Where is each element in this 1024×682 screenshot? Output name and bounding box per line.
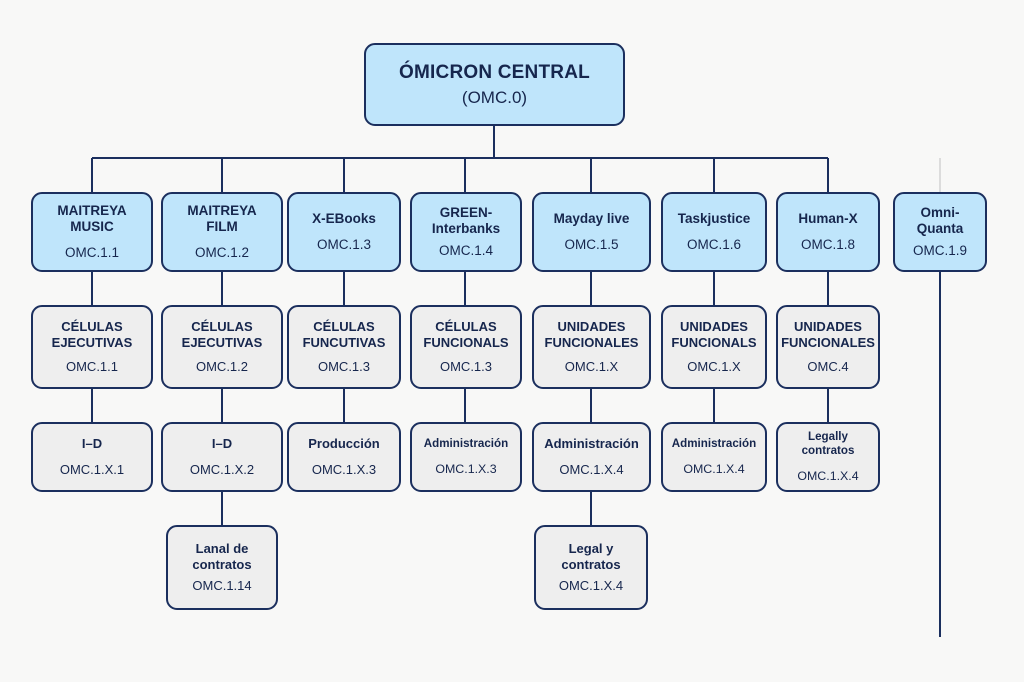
node-title-line1: UNIDADES	[794, 319, 862, 335]
node-code: OMC.1.6	[687, 237, 741, 253]
node-title-line2: FUNCIONALES	[545, 335, 639, 351]
node-function-administracion-1[interactable]: Administración OMC.1.X.3	[410, 422, 522, 492]
node-title: I–D	[212, 436, 232, 452]
node-unit-unidades-funcionales-2[interactable]: UNIDADES FUNCIONALES OMC.4	[776, 305, 880, 389]
node-code: OMC.1.X.3	[312, 462, 376, 478]
node-code: OMC.1.9	[913, 243, 967, 259]
node-function-administracion-3[interactable]: Administración OMC.1.X.4	[661, 422, 767, 492]
node-code: OMC.1.5	[564, 237, 618, 253]
node-function-produccion[interactable]: Producción OMC.1.X.3	[287, 422, 401, 492]
node-root-omicron-central[interactable]: ÓMICRON CENTRAL (OMC.0)	[364, 43, 625, 126]
node-title-line1: GREEN-	[440, 205, 493, 221]
node-title-line2: EJECUTIVAS	[182, 335, 263, 351]
node-code: OMC.1.X.4	[683, 462, 744, 477]
node-title-line2: FUNCIONALES	[781, 335, 875, 351]
node-title: Administración	[544, 436, 639, 452]
node-code: OMC.1.3	[318, 359, 370, 375]
node-title: Administración	[424, 437, 508, 451]
node-title-line2: FILM	[206, 219, 238, 235]
node-division-human-x[interactable]: Human-X OMC.1.8	[776, 192, 880, 272]
node-title-line1: X-EBooks	[312, 211, 376, 227]
node-code: OMC.1.3	[317, 237, 371, 253]
node-title-line1: CÉLULAS	[313, 319, 374, 335]
node-title-line2: Quanta	[917, 221, 964, 237]
node-title-line2: FUNCIONALS	[423, 335, 508, 351]
node-code: OMC.1.1	[66, 359, 118, 375]
node-title-line1: CÉLULAS	[61, 319, 122, 335]
node-title: I–D	[82, 436, 102, 452]
node-title-line1: Omni-	[921, 205, 960, 221]
node-division-maitreya-music[interactable]: MAITREYA MUSIC OMC.1.1	[31, 192, 153, 272]
node-code: OMC.1.X	[687, 359, 740, 375]
node-unit-celulas-funcutivas[interactable]: CÉLULAS FUNCUTIVAS OMC.1.3	[287, 305, 401, 389]
node-subfunction-legal-y-contratos[interactable]: Legal y contratos OMC.1.X.4	[534, 525, 648, 610]
node-division-x-ebooks[interactable]: X-EBooks OMC.1.3	[287, 192, 401, 272]
node-title-line1: Lanal de	[196, 541, 249, 557]
node-title-line1: CÉLULAS	[191, 319, 252, 335]
node-code: OMC.4	[807, 359, 848, 375]
node-division-omni-quanta[interactable]: Omni- Quanta OMC.1.9	[893, 192, 987, 272]
node-code: OMC.1.X.4	[797, 469, 858, 484]
node-function-id-2[interactable]: I–D OMC.1.X.2	[161, 422, 283, 492]
node-title: Administración	[672, 437, 756, 451]
node-unit-celulas-ejecutivas-2[interactable]: CÉLULAS EJECUTIVAS OMC.1.2	[161, 305, 283, 389]
node-title: Producción	[308, 436, 380, 452]
node-unit-celulas-ejecutivas-1[interactable]: CÉLULAS EJECUTIVAS OMC.1.1	[31, 305, 153, 389]
node-code: OMC.1.X.2	[190, 462, 254, 478]
node-title-line2: FUNCIONALS	[671, 335, 756, 351]
node-code: OMC.1.3	[440, 359, 492, 375]
node-title: Legally contratos	[783, 430, 873, 458]
node-title-line2: EJECUTIVAS	[52, 335, 133, 351]
node-title-line2: MUSIC	[70, 219, 114, 235]
org-chart: ÓMICRON CENTRAL (OMC.0) MAITREYA MUSIC O…	[0, 0, 1024, 682]
node-code: OMC.1.X.1	[60, 462, 124, 478]
node-division-maitreya-film[interactable]: MAITREYA FILM OMC.1.2	[161, 192, 283, 272]
node-code: OMC.1.1	[65, 245, 119, 261]
node-function-legally-contratos[interactable]: Legally contratos OMC.1.X.4	[776, 422, 880, 492]
node-code: OMC.1.8	[801, 237, 855, 253]
node-code: (OMC.0)	[462, 88, 527, 109]
node-function-administracion-2[interactable]: Administración OMC.1.X.4	[532, 422, 651, 492]
node-title-line1: Taskjustice	[678, 211, 751, 227]
node-unit-unidades-funcionals[interactable]: UNIDADES FUNCIONALS OMC.1.X	[661, 305, 767, 389]
node-title-line2: Interbanks	[432, 221, 500, 237]
node-code: OMC.1.X.3	[435, 462, 496, 477]
node-title-line1: UNIDADES	[558, 319, 626, 335]
node-division-green-interbanks[interactable]: GREEN- Interbanks OMC.1.4	[410, 192, 522, 272]
node-title-line1: MAITREYA	[57, 203, 126, 219]
node-code: OMC.1.X	[565, 359, 618, 375]
node-division-taskjustice[interactable]: Taskjustice OMC.1.6	[661, 192, 767, 272]
node-code: OMC.1.2	[196, 359, 248, 375]
node-title-line1: Legal y	[569, 541, 614, 557]
node-title-line2: FUNCUTIVAS	[303, 335, 386, 351]
node-title-line1: Mayday live	[554, 211, 630, 227]
node-unit-unidades-funcionales-1[interactable]: UNIDADES FUNCIONALES OMC.1.X	[532, 305, 651, 389]
node-code: OMC.1.14	[192, 578, 251, 594]
node-title-line2: contratos	[192, 557, 251, 573]
node-division-mayday-live[interactable]: Mayday live OMC.1.5	[532, 192, 651, 272]
node-title-line1: Human-X	[798, 211, 857, 227]
node-code: OMC.1.X.4	[559, 578, 623, 594]
node-unit-celulas-funcionals[interactable]: CÉLULAS FUNCIONALS OMC.1.3	[410, 305, 522, 389]
node-code: OMC.1.X.4	[559, 462, 623, 478]
node-title: ÓMICRON CENTRAL	[399, 61, 590, 84]
node-title-line1: CÉLULAS	[435, 319, 496, 335]
node-code: OMC.1.2	[195, 245, 249, 261]
node-title-line1: UNIDADES	[680, 319, 748, 335]
node-code: OMC.1.4	[439, 243, 493, 259]
node-function-id-1[interactable]: I–D OMC.1.X.1	[31, 422, 153, 492]
node-title-line2: contratos	[561, 557, 620, 573]
node-title-line1: MAITREYA	[187, 203, 256, 219]
node-subfunction-lanal-de-contratos[interactable]: Lanal de contratos OMC.1.14	[166, 525, 278, 610]
